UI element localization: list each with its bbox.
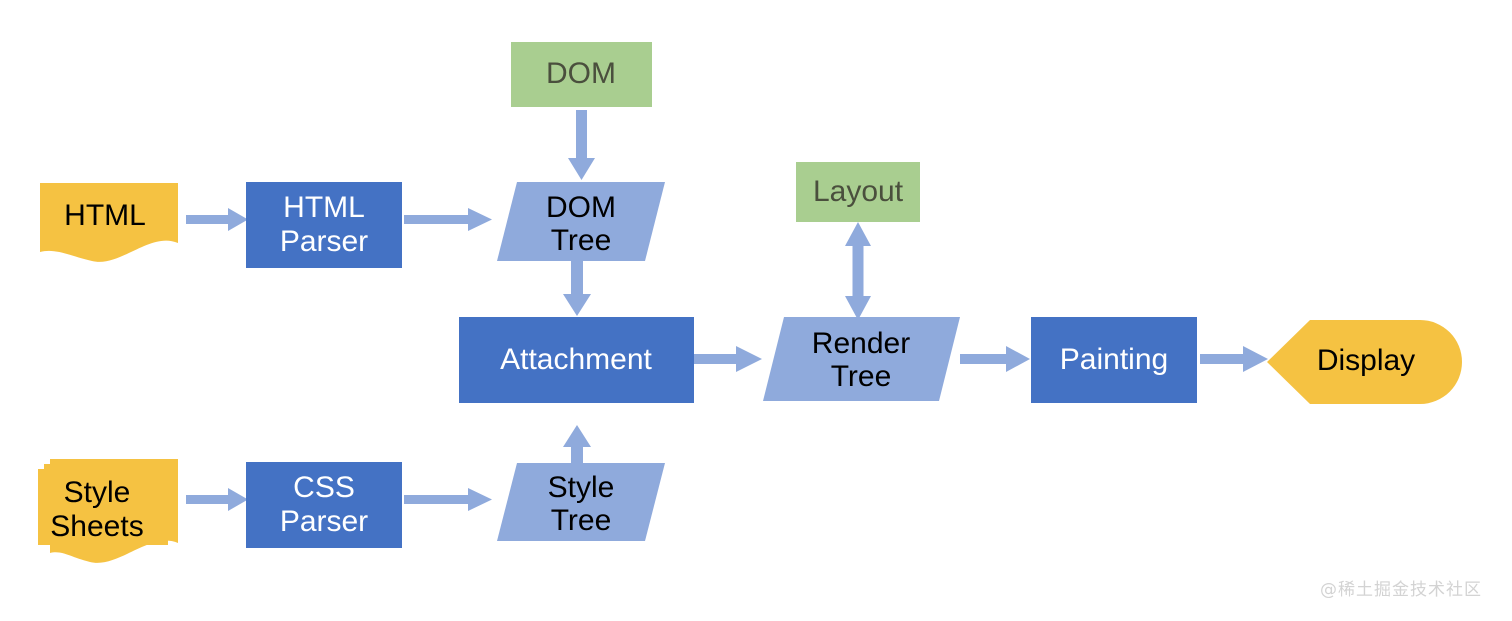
edge-html-parser-to-dom-tree [404, 208, 492, 231]
node-dom-note[interactable]: DOM [511, 42, 652, 107]
html-parser-label-line1: HTML [283, 191, 365, 224]
edge-render-tree-to-painting [960, 346, 1030, 372]
dom-note-label: DOM [546, 57, 616, 90]
layout-note-label: Layout [813, 175, 904, 208]
dom-tree-label-line2: Tree [551, 224, 612, 257]
watermark: @稀土掘金技术社区 [1320, 580, 1482, 600]
edge-style-sheets-to-css-parser [186, 488, 248, 511]
painting-label: Painting [1060, 343, 1168, 376]
node-style-sheets[interactable]: Style Sheets [38, 459, 178, 563]
style-sheets-label-line2: Sheets [50, 510, 143, 543]
edge-html-to-html-parser [186, 208, 248, 231]
edge-painting-to-display [1200, 346, 1268, 372]
style-tree-label-line2: Tree [551, 504, 612, 537]
dom-tree-label-line1: DOM [546, 191, 616, 224]
node-css-parser[interactable]: CSS Parser [246, 462, 402, 548]
node-render-tree[interactable]: Render Tree [763, 317, 960, 401]
node-display[interactable]: Display [1267, 320, 1462, 404]
attachment-label: Attachment [500, 343, 652, 376]
html-parser-label-line2: Parser [280, 225, 368, 258]
edges-layer [186, 110, 1268, 511]
edge-layout-render-tree [845, 222, 871, 320]
edge-dom-tree-to-attachment [563, 260, 591, 316]
node-attachment[interactable]: Attachment [459, 317, 694, 403]
render-tree-label-line1: Render [812, 327, 910, 360]
html-source-label: HTML [64, 199, 146, 232]
node-style-tree[interactable]: Style Tree [497, 463, 665, 541]
style-tree-label-line1: Style [548, 471, 615, 504]
css-parser-label-line1: CSS [293, 471, 355, 504]
flowchart-diagram: HTML HTML Parser DOM DOM Tree Attachment… [0, 0, 1512, 621]
style-sheets-label-line1: Style [64, 476, 131, 509]
node-html-parser[interactable]: HTML Parser [246, 182, 402, 268]
node-dom-tree[interactable]: DOM Tree [497, 182, 665, 261]
render-tree-label-line2: Tree [831, 360, 892, 393]
css-parser-label-line2: Parser [280, 505, 368, 538]
edge-attachment-to-render-tree [694, 346, 762, 372]
node-html-source[interactable]: HTML [40, 183, 178, 262]
edge-dom-note-to-dom-tree [568, 110, 595, 180]
display-label: Display [1317, 344, 1415, 377]
node-layout-note[interactable]: Layout [796, 162, 920, 222]
edge-css-parser-to-style-tree [404, 488, 492, 511]
node-painting[interactable]: Painting [1031, 317, 1197, 403]
